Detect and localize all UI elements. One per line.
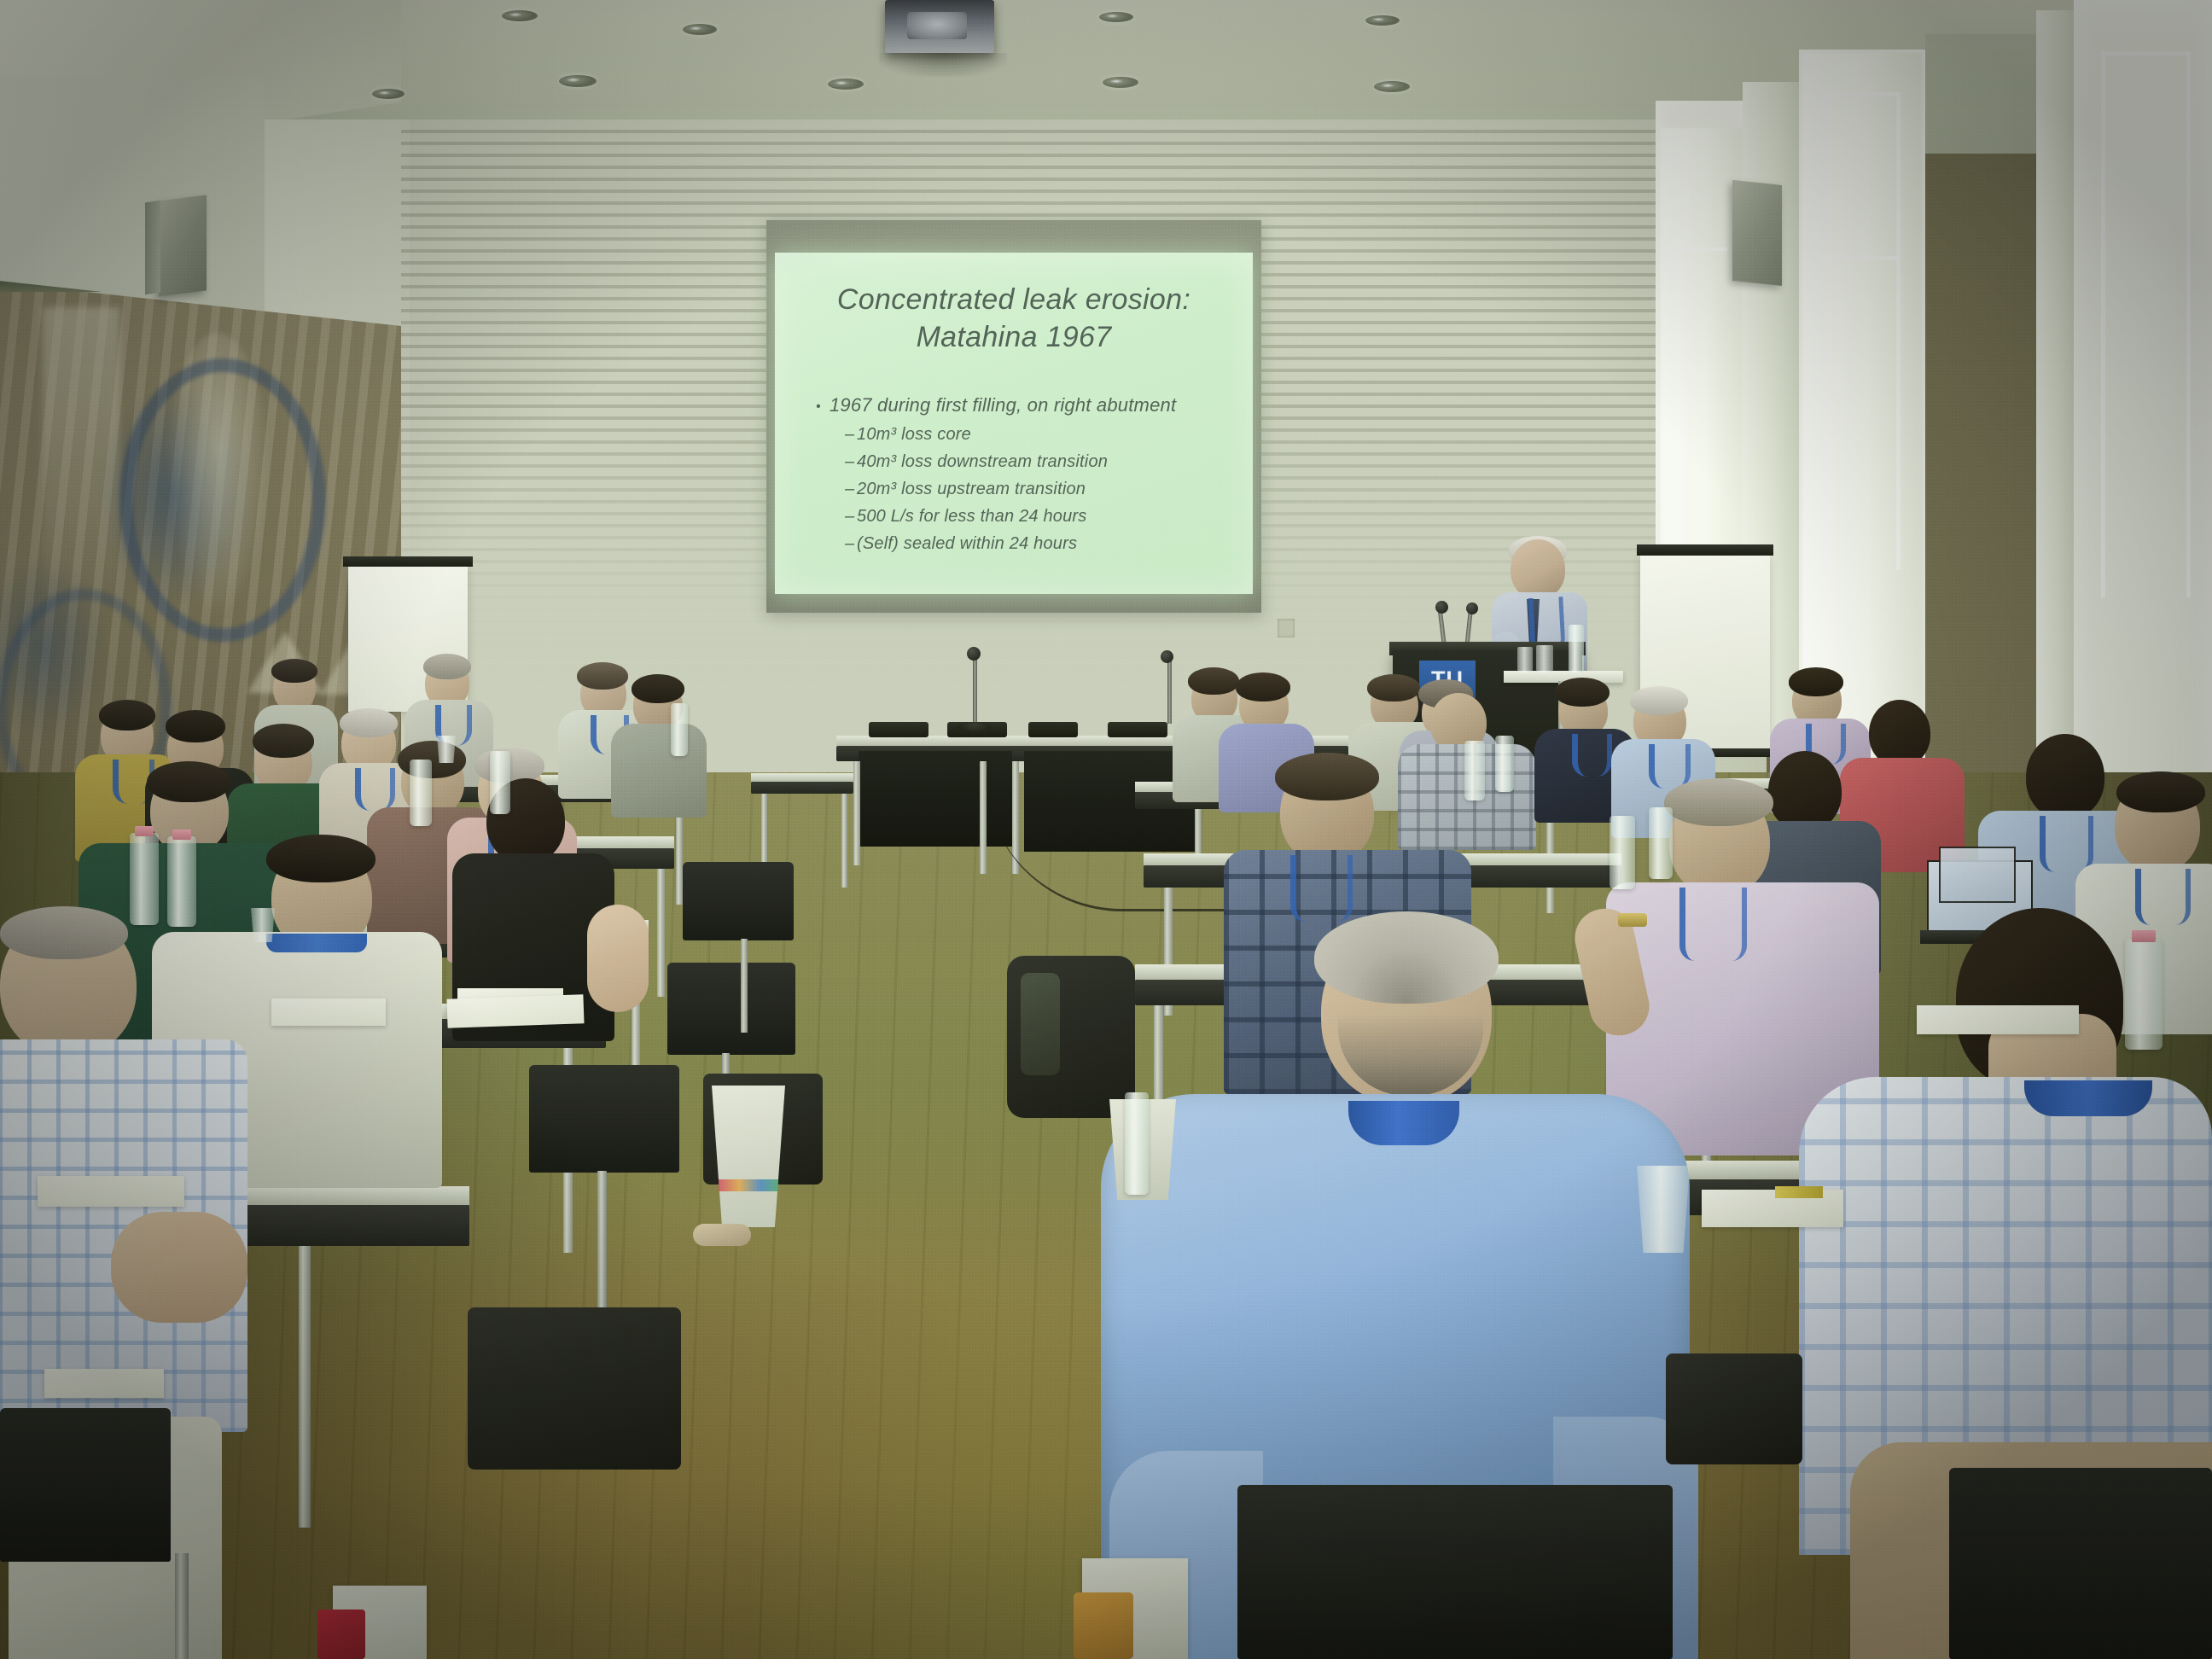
downlight-icon [502, 10, 538, 21]
chair-back[interactable] [529, 1065, 679, 1173]
laptop-screen[interactable] [1939, 847, 2016, 903]
attendee-hair [2026, 734, 2104, 819]
attendee-arm [111, 1212, 247, 1323]
slide-bullet-list: •1967 during first filling, on right abu… [816, 394, 1243, 562]
slide-bullet-item: –500 L/s for less than 24 hours [845, 507, 1243, 527]
water-bottle[interactable] [671, 703, 688, 756]
red-bag[interactable] [317, 1610, 365, 1659]
table-leg [299, 1246, 311, 1528]
bullet-marker: – [845, 425, 857, 445]
water-bottle[interactable] [167, 836, 196, 927]
slide-bullet-item: –40m³ loss downstream transition [845, 452, 1243, 472]
window-panel-line [1678, 247, 1727, 251]
slide: Concentrated leak erosion: Matahina 1967… [775, 253, 1253, 594]
window-reveal-3 [2074, 0, 2212, 862]
tapestry-ring-motif [119, 358, 326, 642]
desk-nameplate [1108, 722, 1167, 737]
attendee-hair [577, 662, 628, 690]
downlight-icon [1365, 15, 1400, 26]
microphone-head-icon[interactable] [1466, 602, 1478, 614]
attendee-hair [147, 761, 230, 802]
bottle-cap [135, 826, 154, 836]
attendee-hair [398, 741, 466, 778]
bullet-marker: • [816, 399, 829, 415]
attendee-arm [587, 905, 649, 1012]
slide-title: Concentrated leak erosion: Matahina 1967 [775, 282, 1253, 356]
attendee-hair [423, 654, 471, 679]
attendee-lanyard [1649, 744, 1691, 789]
table-edge [751, 773, 853, 782]
table-top [751, 782, 853, 794]
microphone-stand[interactable] [1167, 659, 1172, 724]
drinking-cup[interactable] [437, 736, 456, 763]
flipchart-right-bar [1637, 544, 1773, 556]
attendee-hair [166, 710, 225, 742]
downlight-icon [828, 79, 864, 90]
table-leg [676, 802, 683, 905]
water-bottle[interactable] [2125, 939, 2163, 1050]
attendee-hair [1630, 686, 1688, 715]
chair-leg [175, 1553, 189, 1659]
presenter-head [1511, 539, 1565, 599]
water-bottle[interactable] [1464, 741, 1485, 800]
table-leg [853, 761, 860, 865]
chair-back[interactable] [1237, 1485, 1673, 1659]
wall-speaker-right-icon [1732, 180, 1782, 286]
attendee-hair [1188, 667, 1239, 695]
chair-back[interactable] [0, 1408, 171, 1562]
attendee-hair [271, 659, 317, 683]
bullet-text: 500 L/s for less than 24 hours [857, 507, 1087, 526]
wall-speaker-left-side [145, 201, 160, 295]
chair-back[interactable] [1949, 1468, 2212, 1659]
bullet-text: 1967 during first filling, on right abut… [829, 394, 1176, 416]
window-panel-line [2186, 51, 2191, 597]
downlight-icon [1374, 81, 1410, 92]
microphone-stand[interactable] [973, 655, 977, 725]
desk-nameplate [1028, 722, 1078, 737]
handout-paper[interactable] [38, 1176, 184, 1207]
attendee-hair [1367, 674, 1420, 701]
window-panel-line [2101, 51, 2105, 597]
slide-bullet-item: –10m³ loss core [845, 425, 1243, 445]
downlight-icon [1103, 77, 1138, 88]
water-bottle[interactable] [1569, 625, 1584, 672]
attendee-hair [253, 724, 314, 758]
water-bottle[interactable] [1610, 816, 1635, 889]
drinking-glass[interactable] [1517, 647, 1533, 672]
slide-title-line-2: Matahina 1967 [775, 319, 1253, 357]
slide-bullet-item: •1967 during first filling, on right abu… [816, 394, 1243, 416]
attendee-hair [632, 674, 684, 703]
attendee-hair [2116, 771, 2205, 812]
bottle-cap [172, 829, 191, 840]
attendee-lanyard [2024, 1080, 2152, 1116]
attendee-hair [1275, 753, 1379, 800]
chair-leg [597, 1171, 607, 1324]
window-pier [1925, 34, 2040, 819]
microphone-head-icon[interactable] [1435, 601, 1448, 614]
window-panel-line [1826, 92, 1900, 96]
attendee-torso [611, 724, 707, 818]
attendee-lanyard [355, 768, 395, 811]
attendee-lanyard [1290, 855, 1353, 922]
attendee-lanyard [2135, 869, 2191, 925]
backpack-strap [1021, 973, 1060, 1075]
bullet-marker: – [845, 534, 857, 554]
bullet-text: 10m³ loss core [857, 425, 971, 444]
attendee-hair [1768, 751, 1842, 831]
wristwatch [1618, 913, 1647, 927]
chair-back[interactable] [683, 862, 794, 940]
downlight-icon [372, 89, 405, 99]
backpack[interactable] [468, 1307, 681, 1470]
attendee-hair [266, 835, 375, 882]
water-bottle[interactable] [410, 760, 432, 826]
conference-tote-bag[interactable] [712, 1086, 785, 1227]
window-panel-line [2101, 51, 2190, 55]
bottle-cap [2132, 930, 2156, 942]
flipchart-left-bar [343, 556, 473, 567]
attendee-hair [0, 906, 128, 959]
window-panel-line [1826, 92, 1831, 570]
bullet-text: 40m³ loss downstream transition [857, 452, 1108, 471]
bullet-marker: – [845, 507, 857, 527]
attendee-hair [1789, 667, 1843, 696]
projector-shadow [879, 53, 1007, 77]
attendee-hair [1664, 778, 1773, 826]
downlight-icon [559, 75, 597, 87]
attendee-hair [1555, 678, 1610, 707]
drinking-cup[interactable] [251, 908, 275, 942]
attendee-hair [99, 700, 155, 731]
attendee-lanyard [1572, 734, 1612, 777]
water-bottle[interactable] [1649, 807, 1673, 879]
downlight-icon [683, 24, 717, 35]
water-bottle[interactable] [1125, 1092, 1149, 1195]
handout-paper[interactable] [44, 1369, 164, 1398]
wall-socket [1278, 619, 1295, 637]
backpack[interactable] [1666, 1353, 1802, 1464]
slide-bullet-item: –20m³ loss upstream transition [845, 480, 1243, 499]
attendee-hair [1236, 672, 1290, 701]
bullet-text: 20m³ loss upstream transition [857, 480, 1086, 498]
attendee-hair [1314, 911, 1499, 1004]
ceiling-projector [885, 0, 994, 53]
attendee-lanyard [1679, 888, 1747, 961]
desk-nameplate [869, 722, 928, 737]
screenshot-root: Concentrated leak erosion: Matahina 1967… [0, 0, 2212, 1659]
window-panel-line [1896, 92, 1901, 570]
window-jamb-3 [2036, 10, 2075, 847]
drinking-glass[interactable] [1536, 645, 1553, 672]
table-leg [657, 869, 665, 997]
projection-screen: Concentrated leak erosion: Matahina 1967… [775, 253, 1253, 594]
bullet-marker: – [845, 452, 857, 472]
microphone-head-icon[interactable] [1161, 650, 1173, 663]
water-bottle[interactable] [490, 751, 510, 814]
yellow-bag[interactable] [1074, 1592, 1133, 1659]
handout-paper[interactable] [1917, 1005, 2079, 1034]
downlight-icon [1099, 12, 1133, 22]
chair-leg [741, 939, 748, 1033]
bullet-marker: – [845, 480, 857, 499]
attendee-lanyard [2040, 816, 2093, 872]
attendee-collar-stripe [266, 934, 367, 952]
attendee-hair [1869, 700, 1930, 766]
slide-title-line-1: Concentrated leak erosion: [775, 282, 1253, 319]
shoe [693, 1224, 751, 1246]
drinking-cup[interactable] [1637, 1166, 1690, 1253]
wall-speaker-left-icon [159, 195, 207, 297]
handout-paper[interactable] [271, 998, 386, 1026]
microphone-base [958, 722, 992, 732]
chair-back[interactable] [667, 963, 795, 1055]
window-panel-line [1826, 256, 1900, 260]
attendee-hair [340, 708, 398, 737]
bullet-text: (Self) sealed within 24 hours [857, 534, 1077, 553]
table-leg [841, 794, 847, 888]
slide-bullet-item: –(Self) sealed within 24 hours [845, 534, 1243, 554]
water-bottle[interactable] [1495, 736, 1514, 792]
attendee-lanyard [1348, 1101, 1459, 1145]
tote-print [719, 1179, 778, 1191]
water-bottle[interactable] [130, 833, 159, 925]
notebook[interactable] [446, 994, 584, 1028]
highlighter-marker[interactable] [1775, 1186, 1823, 1198]
microphone-head-icon[interactable] [967, 647, 981, 661]
